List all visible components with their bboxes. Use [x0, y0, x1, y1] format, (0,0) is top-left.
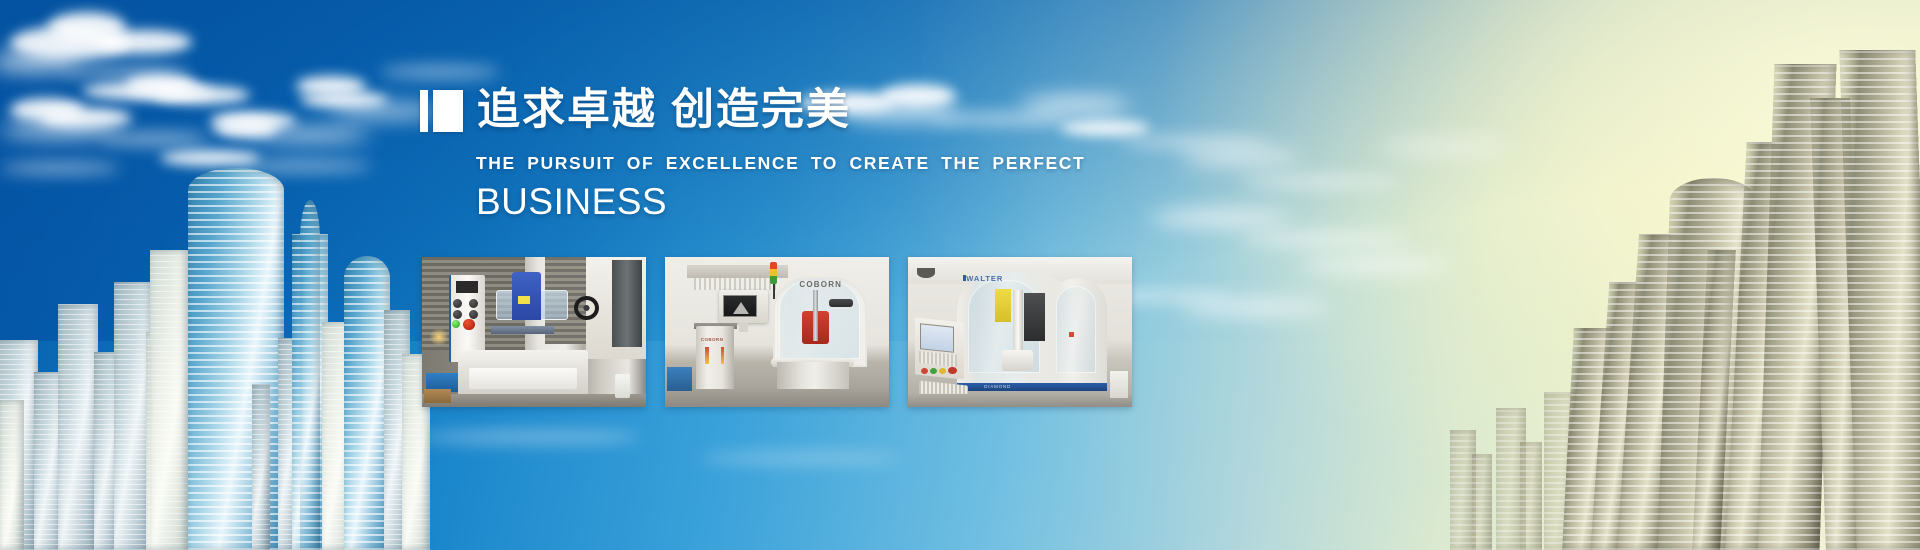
headline-row: 追求卓越 创造完美 [420, 88, 1140, 132]
product-photo-strip: COBORN COBORN [422, 257, 1132, 407]
photo-3-stripe-label: DIAMOND [984, 384, 1011, 389]
photo-coborn-grinder[interactable]: COBORN COBORN [665, 257, 889, 407]
photo-3-scene: WALTER DIAMOND [908, 257, 1132, 407]
banner-copy: 追求卓越 创造完美 THE PURSUIT OF EXCELLENCE TO C… [420, 88, 1140, 223]
logo-bar-icon [420, 90, 428, 132]
photo-2-brand-label: COBORN [799, 280, 842, 289]
photo-walter-grinder[interactable]: WALTER DIAMOND [908, 257, 1132, 407]
business-word: BUSINESS [476, 182, 1140, 223]
headline-chinese: 追求卓越 创造完美 [477, 89, 851, 132]
subtitle-english: THE PURSUIT OF EXCELLENCE TO CREATE THE … [476, 153, 1140, 174]
photo-2-scene: COBORN COBORN [665, 257, 889, 407]
right-city-skyline [1450, 50, 1920, 550]
hero-banner: 追求卓越 创造完美 THE PURSUIT OF EXCELLENCE TO C… [0, 0, 1920, 550]
logo-mark [420, 90, 463, 132]
left-city-skyline [0, 130, 430, 550]
photo-edm-machine[interactable] [422, 257, 646, 407]
photo-2-cabinet-brand-label: COBORN [701, 337, 723, 342]
logo-square-icon [433, 90, 463, 132]
photo-1-scene [422, 257, 646, 407]
photo-3-brand-label: WALTER [966, 274, 1003, 283]
